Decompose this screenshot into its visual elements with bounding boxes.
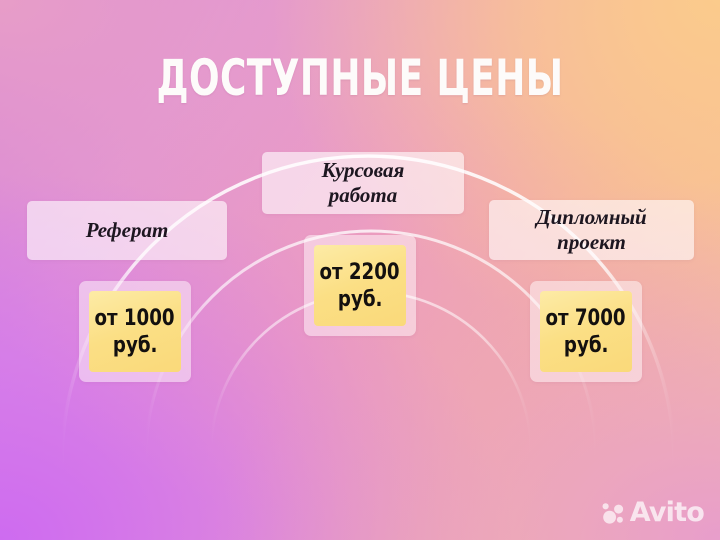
price-line: руб. [113, 332, 158, 359]
avito-wordmark: Avito [630, 499, 704, 526]
price-frame-referat: от 1000 руб. [79, 281, 191, 382]
page-title: ДОСТУПНЫЕ ЦЕНЫ [72, 49, 648, 107]
avito-dots-icon [600, 500, 626, 526]
price-line: руб. [338, 286, 383, 313]
service-name-plate-referat: Реферат [27, 201, 227, 260]
price-line: руб. [564, 332, 609, 359]
service-name-line: работа [322, 183, 405, 208]
service-name-line: Курсовая [322, 158, 405, 183]
poster-canvas: ДОСТУПНЫЕ ЦЕНЫ Реферат Курсовая работа Д… [0, 0, 720, 540]
service-name-line: проект [536, 230, 646, 255]
price-line: от 2200 [320, 259, 400, 286]
service-name-line: Дипломный [536, 205, 646, 230]
avito-watermark: Avito [600, 499, 704, 526]
service-name-line: Реферат [86, 218, 169, 243]
price-frame-diplom: от 7000 руб. [530, 281, 642, 382]
service-name-plate-kursovaya: Курсовая работа [262, 152, 464, 214]
price-line: от 7000 [546, 305, 626, 332]
price-chip-referat: от 1000 руб. [89, 291, 181, 372]
price-line: от 1000 [95, 305, 175, 332]
price-chip-kursovaya: от 2200 руб. [314, 245, 406, 326]
price-chip-diplom: от 7000 руб. [540, 291, 632, 372]
price-frame-kursovaya: от 2200 руб. [304, 235, 416, 336]
service-name-plate-diplom: Дипломный проект [489, 200, 694, 260]
